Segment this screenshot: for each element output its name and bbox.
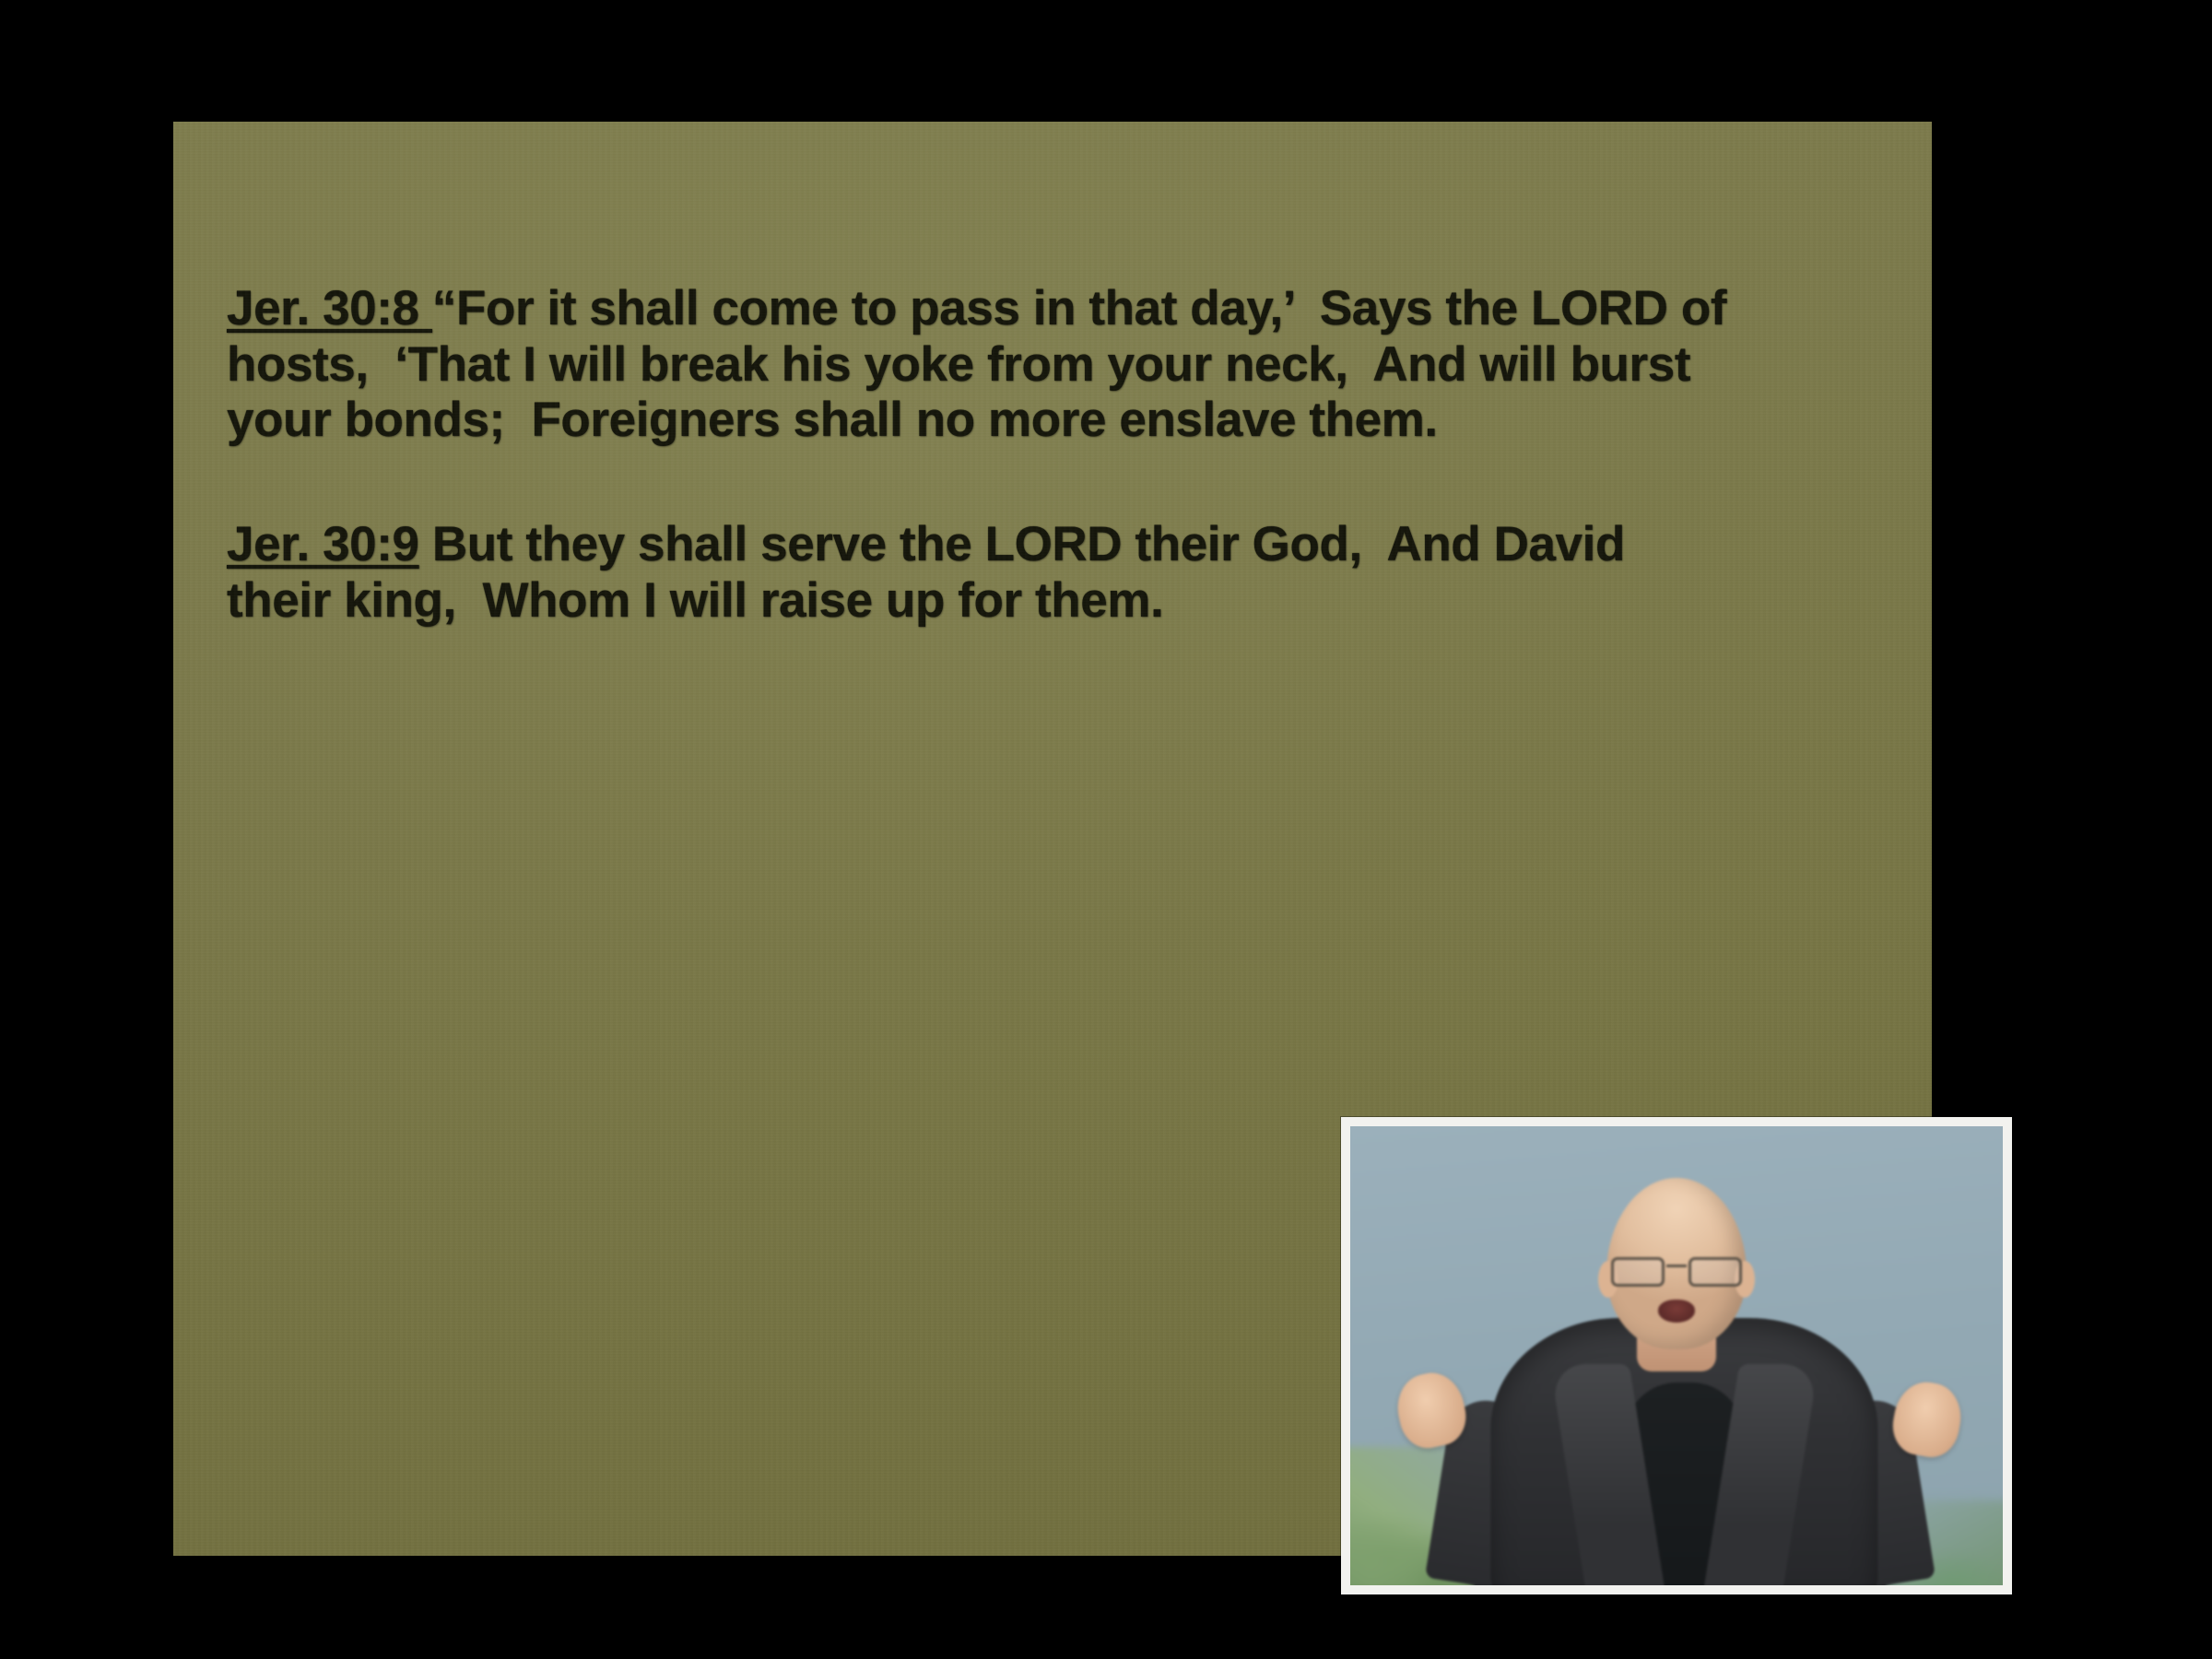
glasses-icon	[1609, 1255, 1744, 1283]
speaker-video-inset[interactable]	[1341, 1117, 2012, 1594]
speaker-mouth	[1658, 1300, 1695, 1323]
speaker-video-frame	[1350, 1126, 2003, 1585]
presentation-screen: Jer. 30:8 “For it shall come to pass in …	[0, 0, 2212, 1659]
verse-reference-jer-30-8: Jer. 30:8	[227, 281, 432, 335]
verse-text-jer-30-9: But they shall serve the LORD their God,…	[227, 517, 1638, 628]
slide-text-body: Jer. 30:8 “For it shall come to pass in …	[227, 232, 1738, 677]
verse-reference-jer-30-9: Jer. 30:9	[227, 517, 419, 571]
verse-block-jer-30-8: Jer. 30:8 “For it shall come to pass in …	[227, 281, 1738, 449]
speaker-head	[1606, 1178, 1747, 1349]
verse-block-jer-30-9: Jer. 30:9 But they shall serve the LORD …	[227, 517, 1738, 629]
glasses-bridge	[1666, 1265, 1687, 1267]
verse-text-jer-30-8: “For it shall come to pass in that day,’…	[227, 281, 1739, 447]
